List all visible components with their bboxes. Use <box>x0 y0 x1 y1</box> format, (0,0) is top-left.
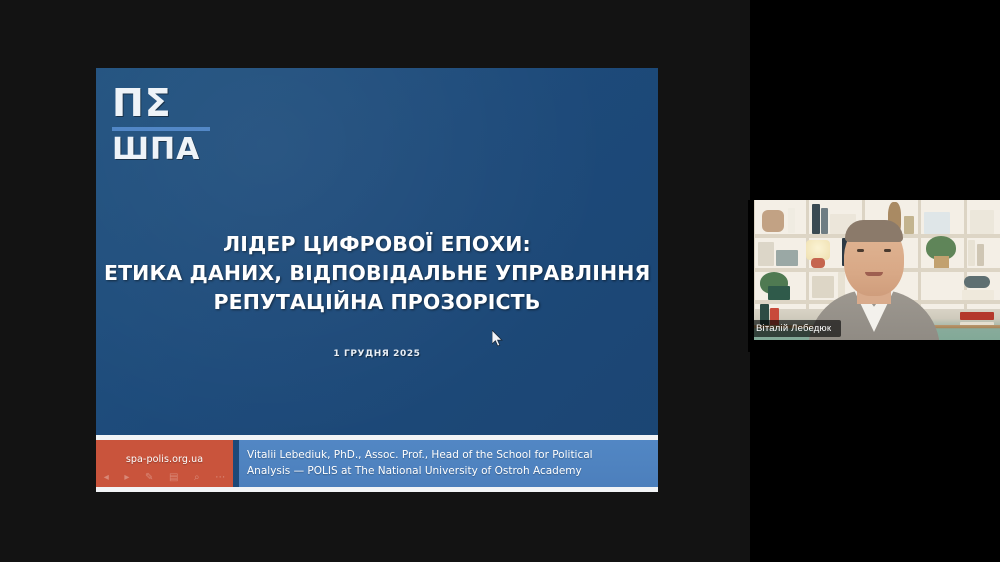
slide-date: 1 ГРУДНЯ 2025 <box>96 349 658 359</box>
presentation-slide[interactable]: ПΣ ШПА ЛІДЕР ЦИФРОВОЇ ЕПОХИ: ЕТИКА ДАНИХ… <box>96 68 658 492</box>
shelf-object <box>821 208 828 234</box>
mouse-pointer-icon <box>492 330 504 348</box>
shelf-object <box>762 210 784 232</box>
shelf-object <box>904 216 914 234</box>
lamp-base <box>811 258 825 268</box>
zoom-icon[interactable]: ⌕ <box>194 473 200 483</box>
shelf-object <box>812 276 834 298</box>
slide-title-line-3: РЕПУТАЦІЙНА ПРОЗОРІСТЬ <box>104 288 650 317</box>
slide-title: ЛІДЕР ЦИФРОВОЇ ЕПОХИ: ЕТИКА ДАНИХ, ВІДПО… <box>96 230 658 317</box>
website-label: spa-polis.org.ua <box>126 454 203 465</box>
shelf-object <box>758 242 774 266</box>
website-block[interactable]: spa-polis.org.ua ◂ ▸ ✎ ▤ ⌕ ⋯ <box>96 440 233 487</box>
pen-icon[interactable]: ✎ <box>145 473 153 483</box>
lamp-shade <box>806 240 830 260</box>
participant-name-badge: Віталій Лебедюк <box>748 320 841 337</box>
slide-title-line-2: ЕТИКА ДАНИХ, ВІДПОВІДАЛЬНЕ УПРАВЛІННЯ Й <box>104 259 650 288</box>
shelf-object <box>924 212 950 234</box>
shelf-object <box>970 210 994 234</box>
presenter-credit-line-2: Analysis — POLIS at The National Univers… <box>247 464 593 479</box>
shelf-object <box>960 312 994 320</box>
participant-mouth <box>865 272 883 276</box>
meeting-screen: ПΣ ШПА ЛІДЕР ЦИФРОВОЇ ЕПОХИ: ЕТИКА ДАНИХ… <box>0 0 1000 562</box>
presenter-credit-text: Vitalii Lebediuk, PhD., Assoc. Prof., He… <box>247 448 593 478</box>
presenter-credit-line-1: Vitalii Lebediuk, PhD., Assoc. Prof., He… <box>247 448 593 463</box>
slide-overview-icon[interactable]: ▤ <box>169 473 178 483</box>
shelf-object <box>788 208 795 233</box>
slide-title-line-1: ЛІДЕР ЦИФРОВОЇ ЕПОХИ: <box>104 230 650 259</box>
logo-bottom-text: ШПА <box>110 135 214 165</box>
presentation-toolbar[interactable]: ◂ ▸ ✎ ▤ ⌕ ⋯ <box>96 469 233 486</box>
shelf-object <box>968 240 975 266</box>
tile-bottom-edge <box>748 340 1000 352</box>
shelf-object <box>768 286 790 300</box>
next-slide-icon[interactable]: ▸ <box>124 473 129 483</box>
footer-bottom-divider <box>96 487 658 492</box>
shelf-object <box>977 244 984 266</box>
plant-pot <box>934 256 949 268</box>
shelf-object <box>964 276 990 288</box>
previous-slide-icon[interactable]: ◂ <box>104 473 109 483</box>
shelf-object <box>776 250 798 266</box>
participant-hair <box>845 220 903 242</box>
more-options-icon[interactable]: ⋯ <box>215 473 225 483</box>
participant-eye-right <box>884 249 891 252</box>
logo-divider-rule <box>112 127 210 131</box>
participant-eye-left <box>857 249 864 252</box>
spa-polis-logo: ПΣ ШПА <box>110 84 214 165</box>
shelf-object <box>812 204 820 234</box>
participant-video-tile[interactable]: Віталій Лебедюк <box>748 200 1000 352</box>
shelf-object <box>962 290 994 300</box>
presenter-credit-block: Vitalii Lebediuk, PhD., Assoc. Prof., He… <box>239 440 658 487</box>
slide-footer: spa-polis.org.ua ◂ ▸ ✎ ▤ ⌕ ⋯ Vitalii Leb… <box>96 435 658 492</box>
logo-top-text: ПΣ <box>110 84 214 122</box>
